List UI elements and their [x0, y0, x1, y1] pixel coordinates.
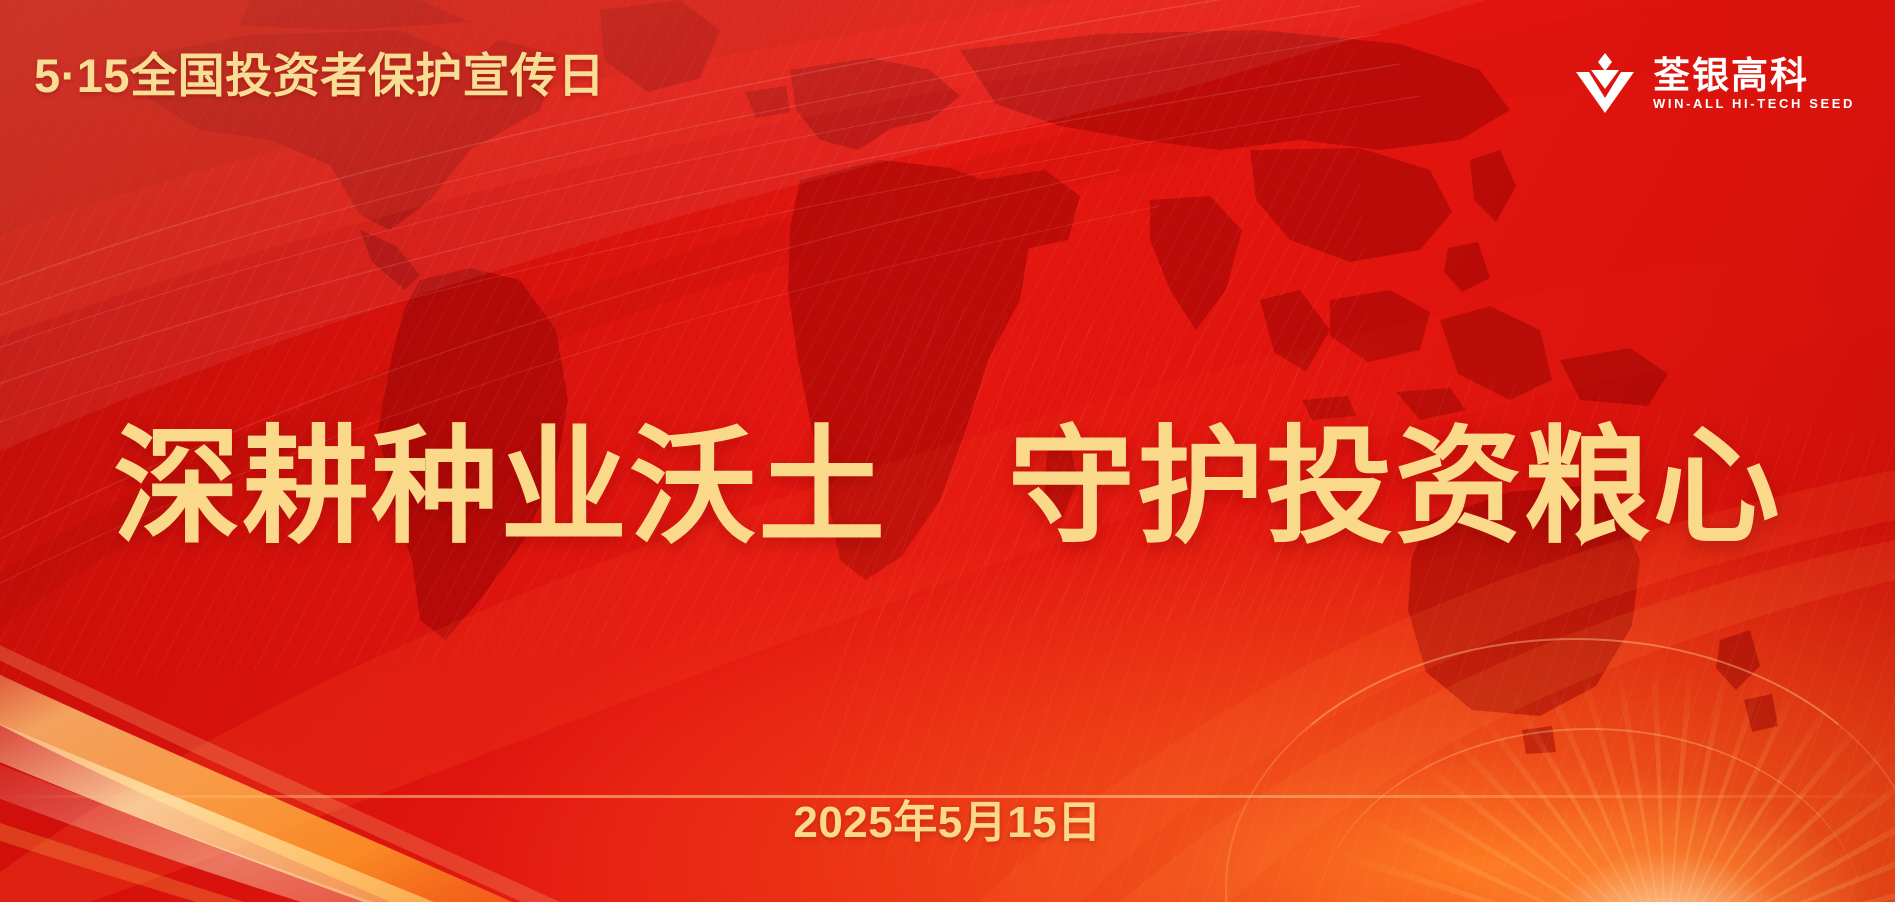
- banner-content: 5·15全国投资者保护宣传日 深耕种业沃土 守护投资粮心 2025年5月15日: [0, 0, 1895, 902]
- company-logo-text: 荃银高科 WIN-ALL HI-TECH SEED: [1653, 57, 1855, 110]
- event-date: 2025年5月15日: [0, 801, 1895, 845]
- main-title: 深耕种业沃土 守护投资粮心: [0, 420, 1895, 555]
- company-logo-lockup: 荃银高科 WIN-ALL HI-TECH SEED: [1572, 50, 1855, 116]
- company-name-cn: 荃银高科: [1653, 57, 1855, 94]
- main-title-line-1: 深耕种业沃土: [113, 416, 887, 558]
- main-title-line-2: 守护投资粮心: [1008, 416, 1782, 558]
- investor-protection-banner: 5·15全国投资者保护宣传日 深耕种业沃土 守护投资粮心 2025年5月15日: [0, 0, 1895, 902]
- double-chevron-seed-mark-icon: [1572, 50, 1638, 116]
- campaign-tag: 5·15全国投资者保护宣传日: [34, 52, 605, 99]
- company-name-en: WIN-ALL HI-TECH SEED: [1653, 97, 1855, 110]
